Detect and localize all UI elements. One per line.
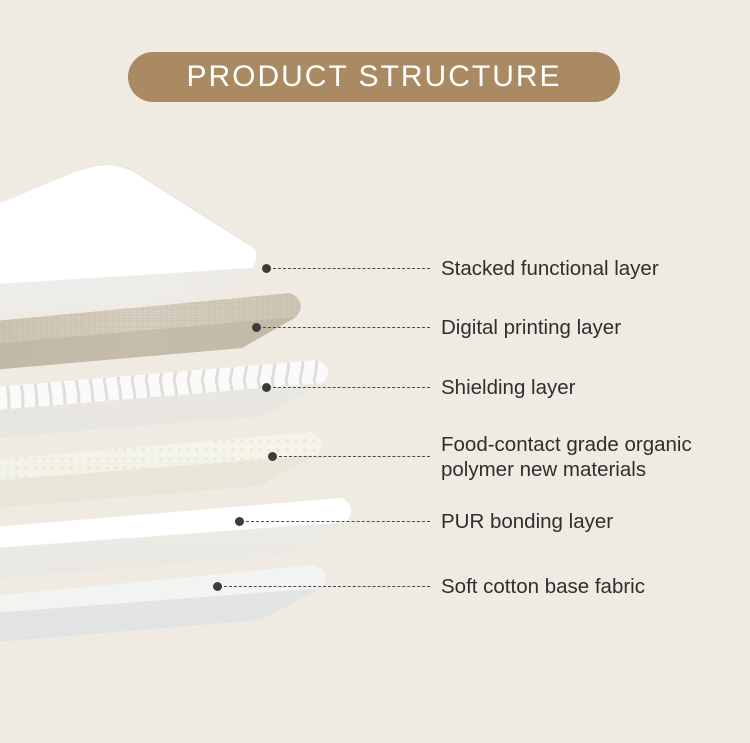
leader-line: [263, 327, 430, 328]
callout-label-soft-cotton-base-fabric: Soft cotton base fabric: [441, 574, 645, 599]
leader-line: [246, 521, 430, 522]
leader-line: [273, 387, 430, 388]
callout-dot-icon: [262, 383, 271, 392]
leader-line: [224, 586, 430, 587]
page-title: PRODUCT STRUCTURE: [186, 60, 561, 94]
leader-line: [273, 268, 430, 269]
callout-label-stacked-functional-layer: Stacked functional layer: [441, 256, 659, 281]
callout-label-pur-bonding-layer: PUR bonding layer: [441, 509, 613, 534]
callout-dot-icon: [252, 323, 261, 332]
sheet-food-contact-polymer: [0, 432, 321, 516]
callout-label-food-contact-polymer: Food-contact grade organic polymer new m…: [441, 432, 692, 482]
callout-dot-icon: [268, 452, 277, 461]
layer-stack-svg: [0, 150, 430, 650]
callout-dot-icon: [262, 264, 271, 273]
callout-dot-icon: [235, 517, 244, 526]
callout-label-shielding-layer: Shielding layer: [441, 375, 575, 400]
layer-stack-illustration: [0, 150, 400, 630]
product-structure-diagram: PRODUCT STRUCTURE Stacked functional lay…: [0, 0, 750, 743]
leader-line: [279, 456, 430, 457]
page-title-pill: PRODUCT STRUCTURE: [128, 52, 620, 102]
sheet-stacked-functional-layer: [0, 164, 257, 322]
sheet-shielding-layer: [0, 360, 328, 446]
callout-dot-icon: [213, 582, 222, 591]
callout-label-digital-printing-layer: Digital printing layer: [441, 315, 621, 340]
sheet-soft-cotton-base-fabric: [0, 565, 326, 650]
